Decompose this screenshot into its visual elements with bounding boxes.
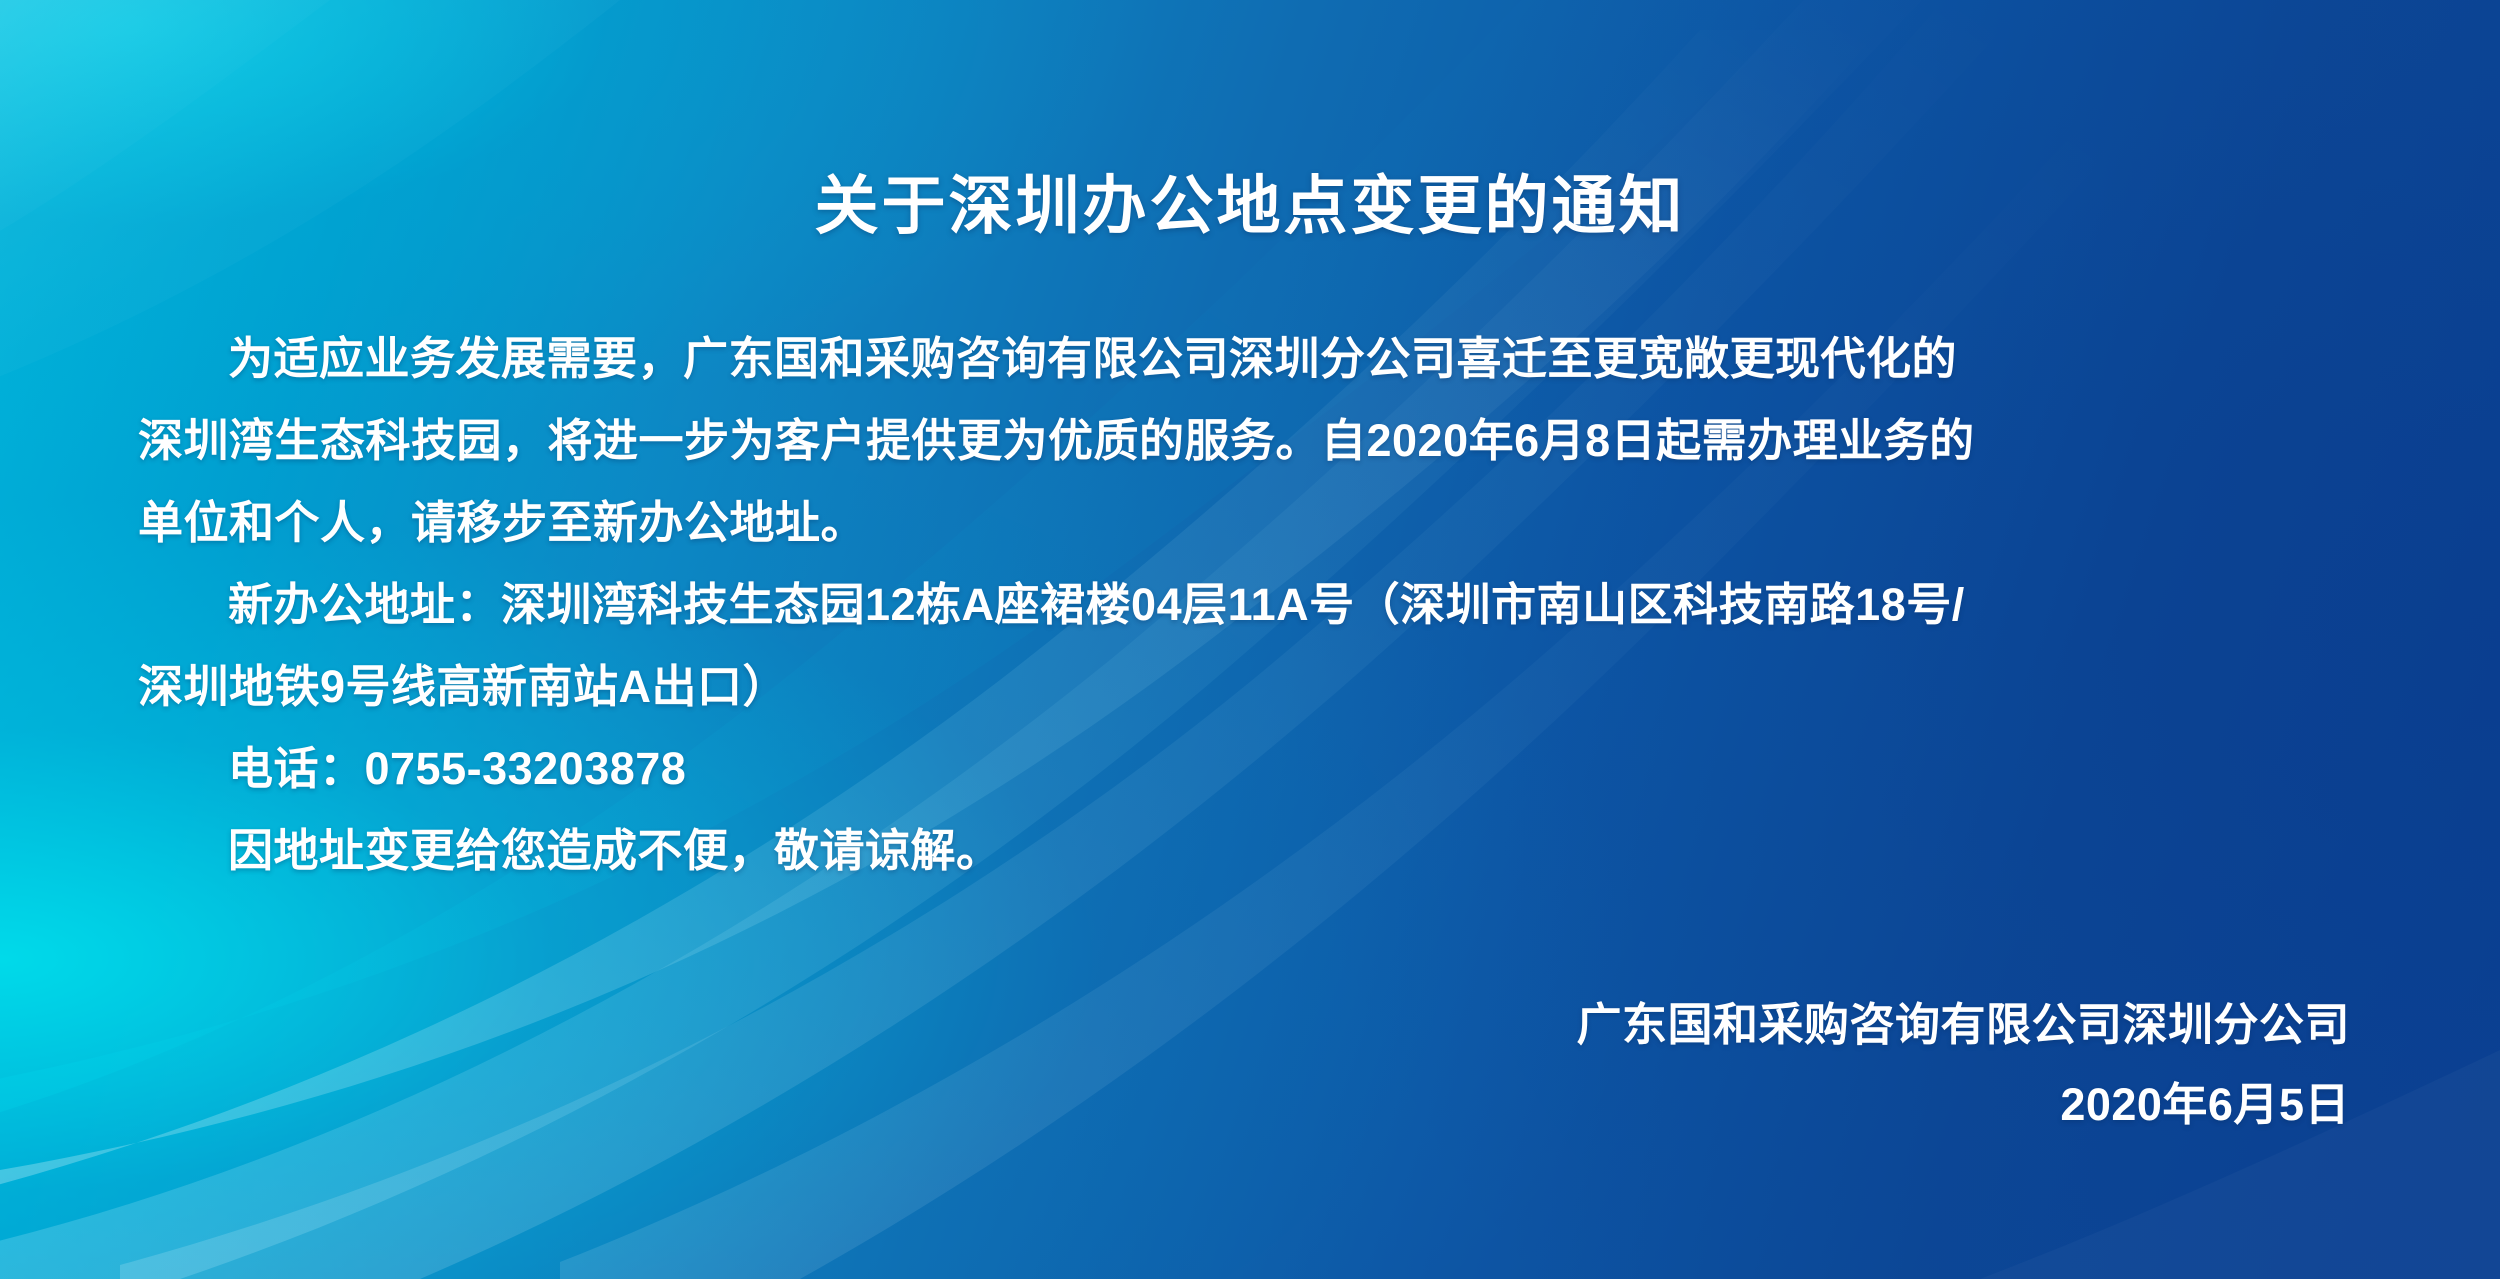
notice-body: 为适应业务发展需要，广东国和采购咨询有限公司深圳分公司喜迁至更宽敞更现代化的 深… [138, 318, 2362, 892]
paragraph-intro: 为适应业务发展需要，广东国和采购咨询有限公司深圳分公司喜迁至更宽敞更现代化的 深… [138, 318, 2362, 564]
paragraph-intro-line-3: 单位和个人，请移步至新办公地址。 [138, 482, 2362, 564]
paragraph-intro-line-1: 为适应业务发展需要，广东国和采购咨询有限公司深圳分公司喜迁至更宽敞更现代化的 [138, 318, 2362, 400]
paragraph-intro-line-2: 深圳湾生态科技园，将进一步为客户提供更为优质的服务。自2020年6月8日起需办理… [138, 400, 2362, 482]
phone-line: 电话：0755-33203878 [138, 728, 2362, 810]
paragraph-address-line-2: 深圳地铁9号线高新南站A出口） [138, 646, 2362, 728]
page-title: 关于深圳办公地点变更的通知 [0, 171, 2500, 241]
notice-poster: 关于深圳办公地点变更的通知 为适应业务发展需要，广东国和采购咨询有限公司深圳分公… [0, 0, 2500, 1279]
signature-block: 广东国和采购咨询有限公司深圳分公司 2020年6月5日 [1576, 985, 2350, 1145]
paragraph-address: 新办公地址：深圳湾科技生态园12栋A座裙楼04层11A号（深圳市南山区科技南路1… [138, 564, 2362, 728]
signature-date: 2020年6月5日 [1576, 1065, 2350, 1145]
poster-content: 关于深圳办公地点变更的通知 为适应业务发展需要，广东国和采购咨询有限公司深圳分公… [0, 0, 2500, 1279]
paragraph-phone: 电话：0755-33203878 [138, 728, 2362, 810]
paragraph-apology: 因地址变更给您造成不便，敬请谅解。 [138, 810, 2362, 892]
apology-line: 因地址变更给您造成不便，敬请谅解。 [138, 810, 2362, 892]
paragraph-address-line-1: 新办公地址：深圳湾科技生态园12栋A座裙楼04层11A号（深圳市南山区科技南路1… [138, 564, 2362, 646]
signature-company: 广东国和采购咨询有限公司深圳分公司 [1576, 985, 2350, 1065]
